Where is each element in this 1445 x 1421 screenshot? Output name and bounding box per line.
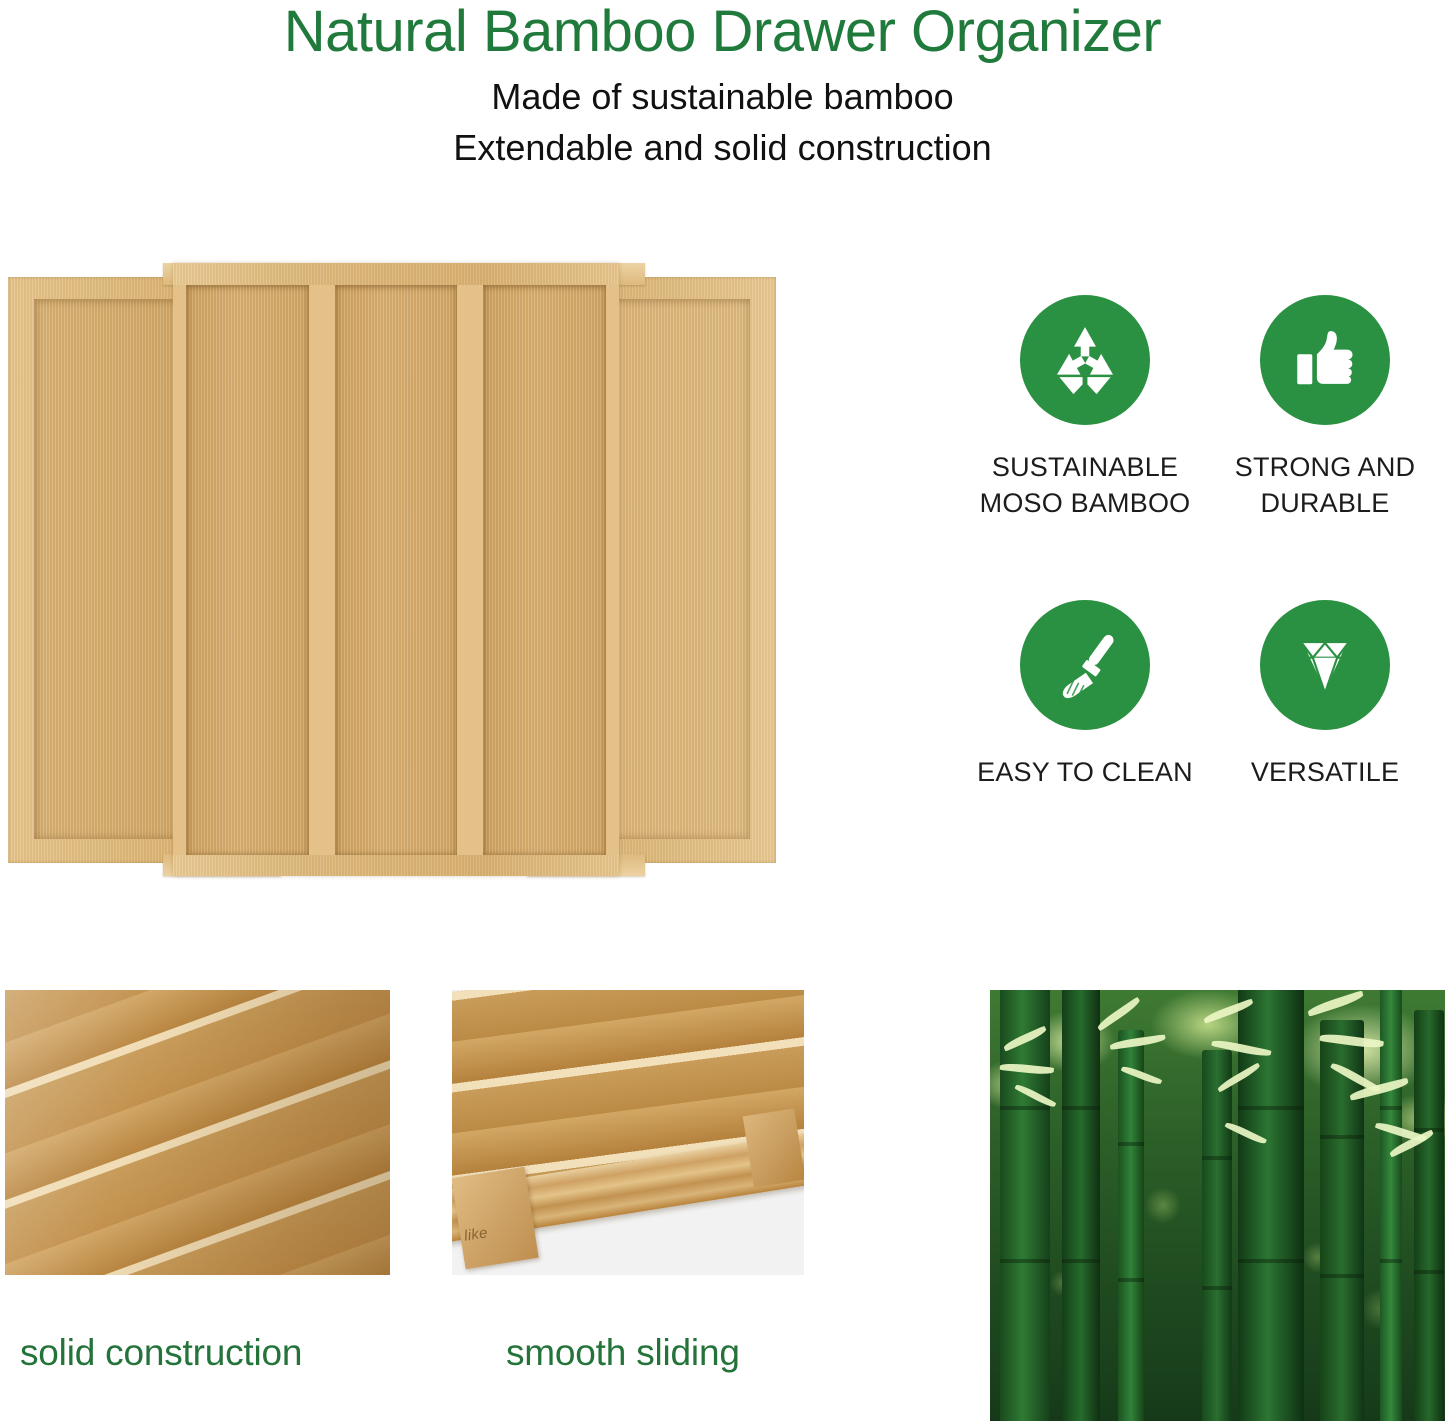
plank-shading-overlay (5, 990, 390, 1275)
compartment-row (173, 285, 619, 855)
subtitle-line-2: Extendable and solid construction (0, 120, 1445, 172)
feature-label: EASY TO CLEAN (977, 754, 1193, 790)
bamboo-culm (1062, 990, 1100, 1421)
diamond-icon (1260, 600, 1390, 730)
compartment (470, 285, 619, 855)
bamboo-forest-photo (990, 990, 1445, 1421)
caption-smooth-sliding: smooth sliding (506, 1332, 740, 1374)
bamboo-culm (1238, 990, 1304, 1421)
rail-end-cap-right (743, 1108, 804, 1187)
bamboo-culm (1202, 1050, 1232, 1421)
rail-end-cap-left (452, 1167, 539, 1269)
feature-label: SUSTAINABLE MOSO BAMBOO (980, 449, 1191, 522)
compartment (322, 285, 471, 855)
feature-grid: SUSTAINABLE MOSO BAMBOO STRONG AND DURAB… (965, 295, 1445, 790)
detail-photo-smooth-sliding: like (452, 990, 804, 1275)
feature-label: VERSATILE (1251, 754, 1399, 790)
feature-sustainable-moso-bamboo: SUSTAINABLE MOSO BAMBOO (965, 295, 1205, 522)
bamboo-culm (1000, 990, 1050, 1421)
product-hero-image (8, 263, 776, 876)
compartment (173, 285, 322, 855)
detail-photo-solid-construction (5, 990, 390, 1275)
bamboo-culm (1118, 1030, 1144, 1421)
feature-versatile: VERSATILE (1205, 600, 1445, 790)
feature-easy-to-clean: EASY TO CLEAN (965, 600, 1205, 790)
subtitle-line-1: Made of sustainable bamboo (0, 63, 1445, 121)
feature-strong-and-durable: STRONG AND DURABLE (1205, 295, 1445, 522)
page-title: Natural Bamboo Drawer Organizer (0, 0, 1445, 63)
broom-icon (1020, 600, 1150, 730)
bamboo-culm (1380, 990, 1402, 1421)
thumbs-up-icon (1260, 295, 1390, 425)
caption-solid-construction: solid construction (20, 1332, 302, 1374)
header: Natural Bamboo Drawer Organizer Made of … (0, 0, 1445, 172)
recycle-icon (1020, 295, 1150, 425)
feature-label: STRONG AND DURABLE (1235, 449, 1416, 522)
bamboo-culm (1414, 1010, 1444, 1421)
sliding-inner-tray (173, 263, 619, 876)
